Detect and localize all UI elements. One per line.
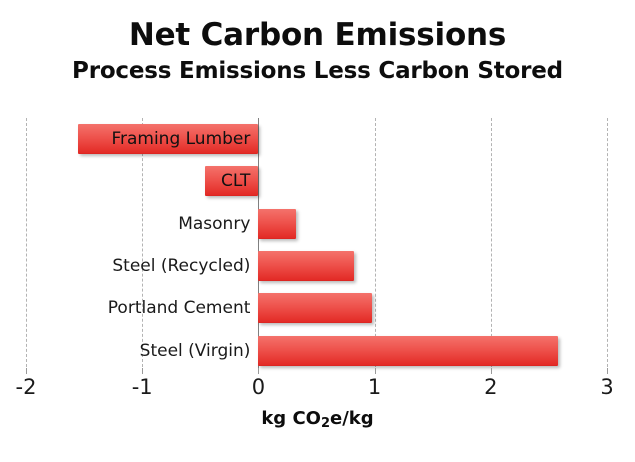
- bar[interactable]: [258, 209, 295, 239]
- x-axis-title-subscript: 2: [321, 416, 330, 431]
- bar-label: Portland Cement: [26, 293, 258, 323]
- x-axis-tick-0: 0: [252, 374, 265, 400]
- x-axis-tick-mark: [491, 368, 492, 374]
- bar-label: Steel (Virgin): [26, 336, 258, 366]
- bar[interactable]: [258, 251, 353, 281]
- x-axis-tick-2: 2: [484, 374, 497, 400]
- x-axis-tick-mark: [607, 368, 608, 374]
- gridline-3: [607, 118, 608, 372]
- x-axis-tick-mark: [375, 368, 376, 374]
- plot-area: Framing LumberCLTMasonrySteel (Recycled)…: [26, 118, 607, 372]
- x-axis-tick-1: 1: [368, 374, 381, 400]
- bar-row: Masonry: [26, 203, 607, 245]
- bar-row: Framing Lumber: [26, 118, 607, 160]
- chart-title-block: Net Carbon Emissions Process Emissions L…: [0, 16, 635, 86]
- x-axis-title-pre: kg CO: [261, 408, 321, 429]
- x-axis-tick-3: 3: [600, 374, 613, 400]
- bar-label: CLT: [205, 166, 258, 196]
- chart-container: Net Carbon Emissions Process Emissions L…: [0, 0, 635, 462]
- bar-row: Portland Cement: [26, 287, 607, 329]
- bar[interactable]: [258, 336, 558, 366]
- bar[interactable]: [258, 293, 372, 323]
- page-title: Net Carbon Emissions: [0, 16, 635, 54]
- x-axis-tick-mark: [26, 368, 27, 374]
- x-axis-tick--2: -2: [16, 374, 37, 400]
- bar-label: Masonry: [26, 209, 258, 239]
- x-axis-tick-mark: [258, 368, 259, 374]
- bar-label: Steel (Recycled): [26, 251, 258, 281]
- bar-row: Steel (Recycled): [26, 245, 607, 287]
- x-axis-tick--1: -1: [132, 374, 153, 400]
- chart-subtitle: Process Emissions Less Carbon Stored: [0, 56, 635, 86]
- x-axis-title: kg CO2e/kg: [0, 408, 635, 429]
- bar-row: CLT: [26, 160, 607, 202]
- x-axis-tick-labels: -2-10123: [0, 374, 635, 404]
- x-axis-title-post: e/kg: [330, 408, 374, 429]
- x-axis-tick-mark: [142, 368, 143, 374]
- bar-label: Framing Lumber: [78, 124, 258, 154]
- bar-row: Steel (Virgin): [26, 330, 607, 372]
